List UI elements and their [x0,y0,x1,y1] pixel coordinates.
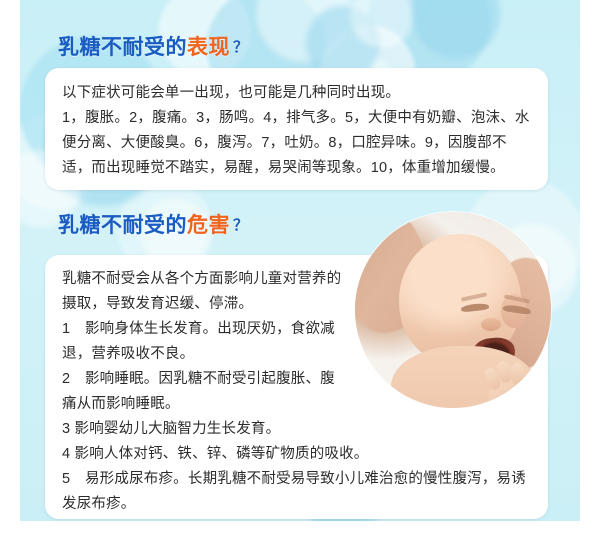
section-title-mark: ？ [233,39,249,56]
decor-bubble [412,0,500,58]
section-title-symptoms: 乳糖不耐受的表现？ [58,31,249,61]
section-title-highlight: 危害 [187,214,230,237]
infographic-page: 乳糖不耐受的表现？ 以下症状可能会单一出现，也可能是几种同时出现。 1，腹胀。2… [0,0,600,548]
harms-line: 5 易形成尿布疹。长期乳糖不耐受易导致小儿难治愈的慢性腹泻，易诱发尿布疹。 [62,467,532,517]
symptoms-line: 1，腹胀。2，腹痛。3，肠鸣。4，排气多。5，大便中有奶瓣、泡沫、水便分离、大便… [62,106,532,181]
crying-baby-photo [355,212,551,408]
section-title-mark: ？ [233,217,249,234]
section-title-harms: 乳糖不耐受的危害？ [58,209,249,239]
symptoms-card: 以下症状可能会单一出现，也可能是几种同时出现。 1，腹胀。2，腹痛。3，肠鸣。4… [45,68,548,190]
section-title-highlight: 表现 [187,36,230,59]
baby-nose [481,318,501,331]
baby-eye-left [461,303,490,313]
baby-finger [511,362,525,385]
baby-brow-left [461,292,487,301]
photo-scene [355,212,551,408]
harms-line: 4 影响人体对钙、铁、锌、磷等矿物质的吸收。 [62,442,532,467]
section-title-prefix: 乳糖不耐受的 [58,36,187,59]
harms-line: 6 体重增加缓慢 [62,517,532,519]
section-title-prefix: 乳糖不耐受的 [58,214,187,237]
symptoms-line: 以下症状可能会单一出现，也可能是几种同时出现。 [62,81,532,106]
baby-fist [483,371,540,408]
symptoms-text: 以下症状可能会单一出现，也可能是几种同时出现。 1，腹胀。2，腹痛。3，肠鸣。4… [62,81,532,181]
